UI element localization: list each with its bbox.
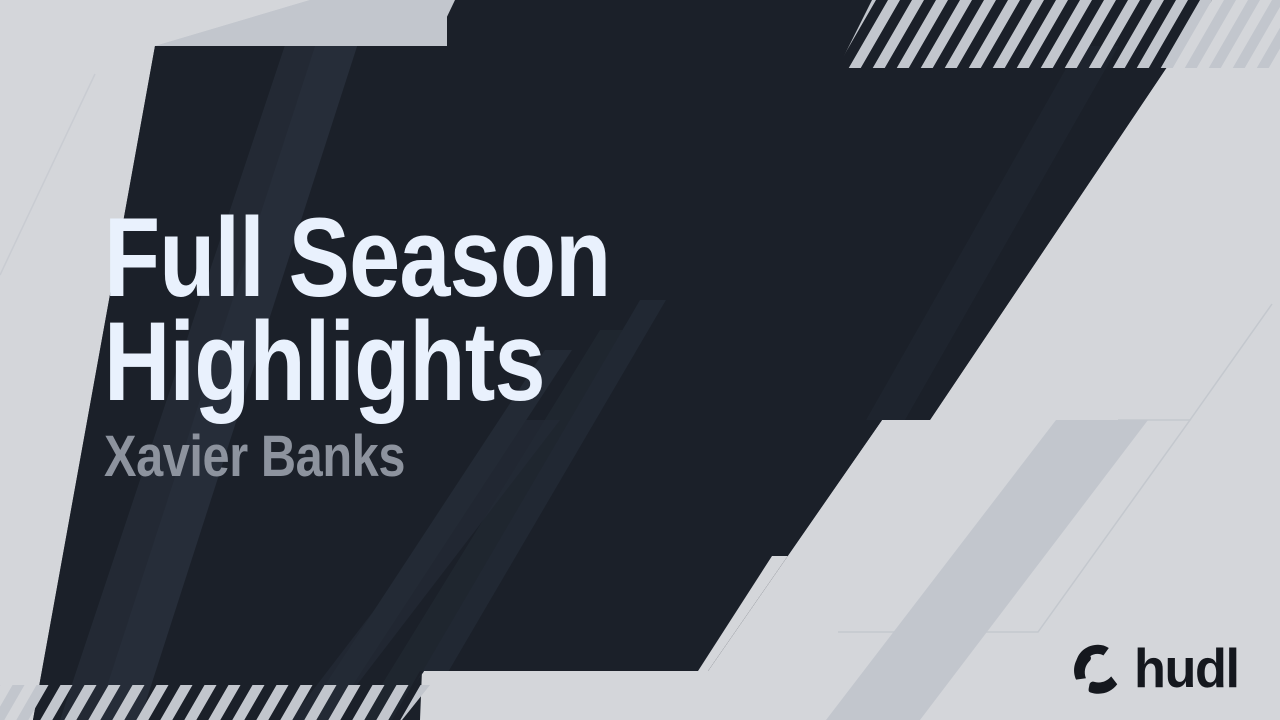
outline-stroke-right-tail	[1190, 304, 1272, 420]
hudl-wordmark: hudl	[1134, 641, 1239, 696]
athlete-name: Xavier Banks	[104, 428, 692, 486]
hudl-logo: hudl	[1071, 641, 1244, 696]
title-line-2: Highlights	[104, 310, 678, 414]
title-block: Full Season Highlights Xavier Banks	[104, 206, 804, 486]
hudl-logo-mark-icon	[1071, 642, 1125, 696]
title-line-1: Full Season	[104, 206, 678, 310]
highlight-title-card: Full Season Highlights Xavier Banks hudl	[0, 0, 1280, 720]
